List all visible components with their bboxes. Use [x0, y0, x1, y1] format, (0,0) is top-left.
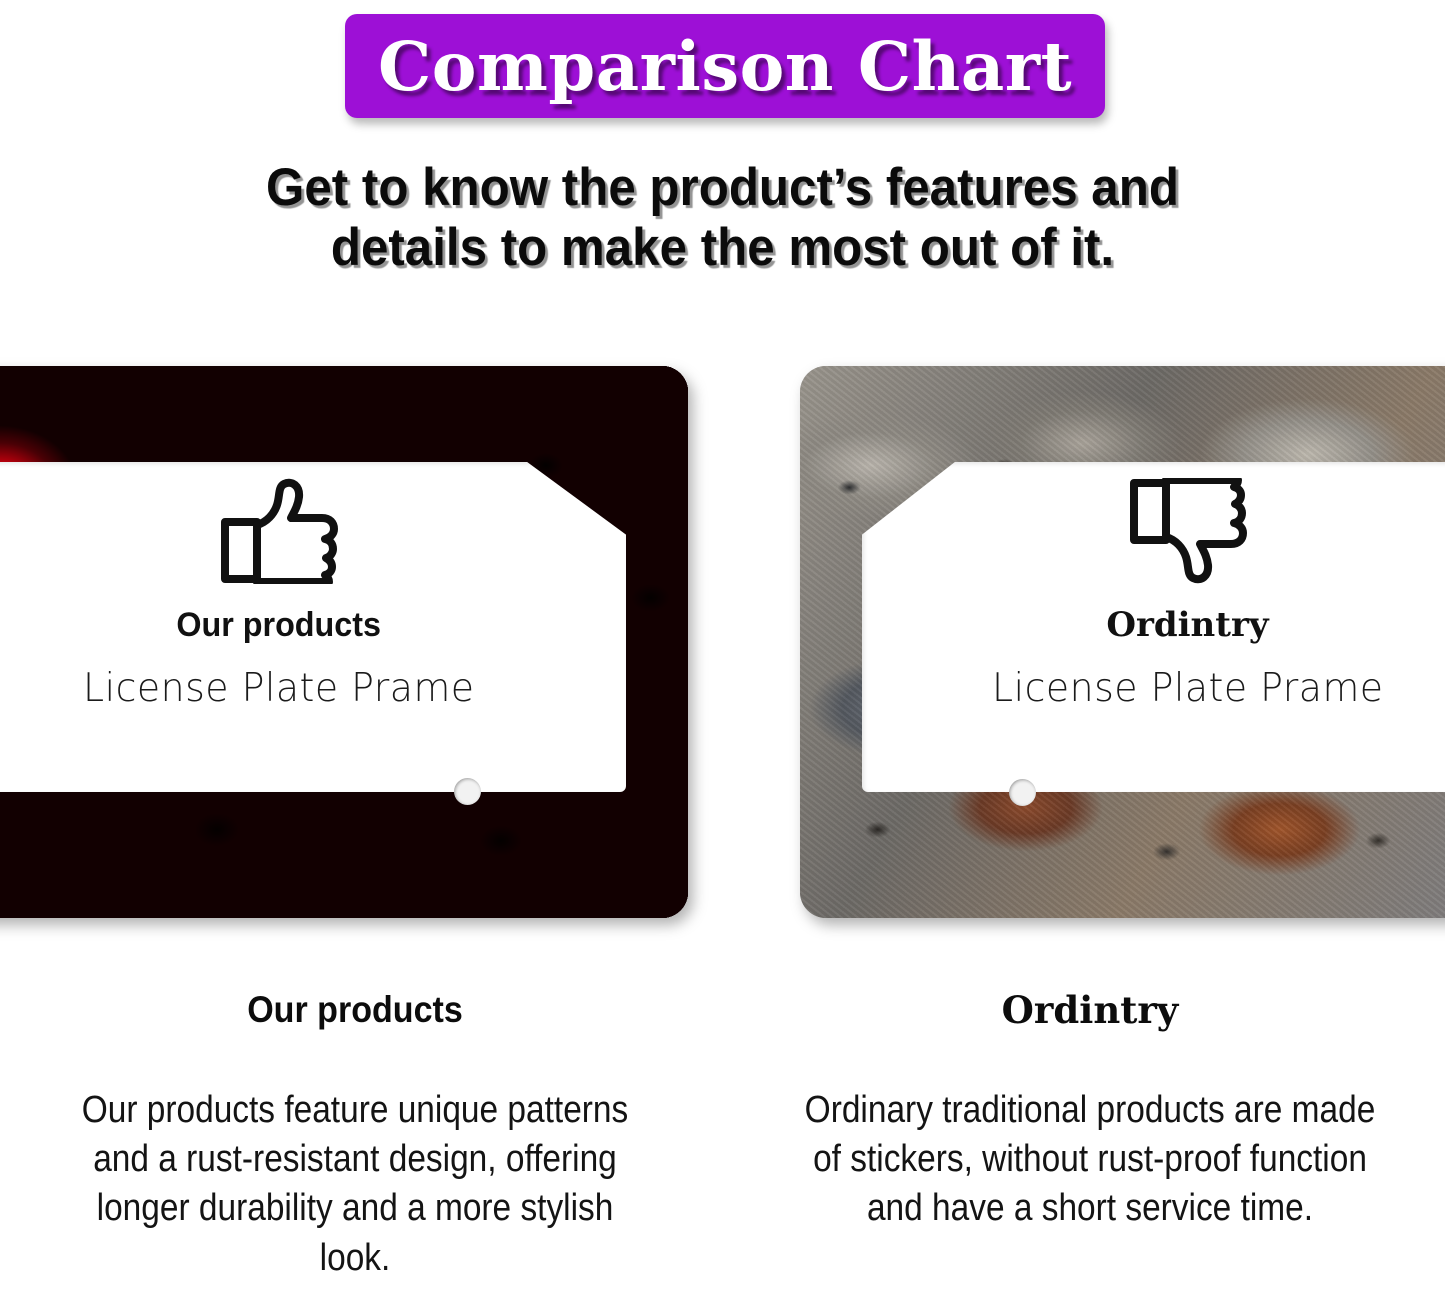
- page-title: Comparison Chart: [378, 27, 1072, 106]
- license-plate-frame-ordintry: Ordintry License Plate Prame: [800, 366, 1445, 918]
- plate-body-right: [800, 366, 1445, 918]
- mounting-hole-icon: [454, 778, 481, 805]
- column-body-ordintry: Ordinary traditional products are made o…: [800, 1086, 1381, 1234]
- plate-window-left: [0, 462, 626, 792]
- plate-body-left: [0, 366, 688, 918]
- subtitle-line-1: Get to know the product’s features and: [134, 158, 1310, 218]
- title-banner: Comparison Chart: [345, 14, 1105, 118]
- comparison-column-ordintry: Ordintry Ordinary traditional products a…: [760, 990, 1420, 1234]
- column-body-our-products: Our products feature unique patterns and…: [65, 1086, 646, 1284]
- subtitle-line-2: details to make the most out of it.: [134, 218, 1310, 278]
- comparison-chart-page: Comparison Chart Get to know the product…: [0, 0, 1445, 1314]
- mounting-hole-icon: [1009, 779, 1036, 806]
- column-heading-our-products: Our products: [51, 990, 658, 1031]
- column-heading-ordintry: Ordintry: [760, 990, 1420, 1031]
- license-plate-frame-our-products: Our products License Plate Prame: [0, 366, 688, 918]
- plate-window-right: [862, 462, 1445, 792]
- comparison-column-our-products: Our products Our products feature unique…: [25, 990, 685, 1283]
- subtitle: Get to know the product’s features and d…: [134, 158, 1310, 279]
